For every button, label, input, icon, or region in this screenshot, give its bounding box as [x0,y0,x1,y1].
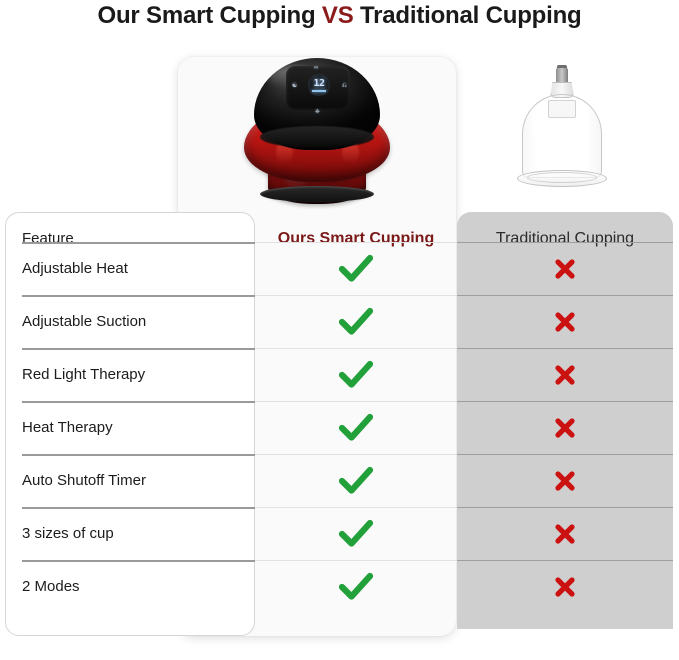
feature-label: Red Light Therapy [22,348,255,401]
traditional-mark-cell [457,295,673,348]
check-icon [339,519,373,549]
bluetooth-icon: ∞ [314,65,318,71]
cross-icon [554,258,576,280]
title-part-1: Our Smart Cupping [97,2,321,29]
feature-label: Adjustable Heat [22,242,255,295]
device-display-value: 12 [308,78,330,89]
title-part-2: Traditional Cupping [354,2,582,29]
table-row: 2 Modes [5,560,673,613]
table-row: Adjustable Heat [5,242,673,295]
check-icon [339,413,373,443]
cup-highlight [532,108,541,164]
traditional-mark-cell [457,401,673,454]
feature-label: 2 Modes [22,560,255,613]
table-row: Adjustable Suction [5,295,673,348]
table-row: Auto Shutoff Timer [5,454,673,507]
device-cup-rim [260,186,374,202]
ours-mark-cell [255,295,457,348]
ours-mark-cell [255,242,457,295]
feature-label: Auto Shutoff Timer [22,454,255,507]
comparison-table: Feature Ours Smart Cupping Traditional C… [5,212,673,636]
cross-icon [554,523,576,545]
page-title: Our Smart Cupping VS Traditional Cupping [0,2,679,30]
ours-mark-cell [255,401,457,454]
cross-icon [554,417,576,439]
check-icon [339,254,373,284]
traditional-mark-cell [457,454,673,507]
traditional-mark-cell [457,348,673,401]
check-icon [339,572,373,602]
cross-icon [554,470,576,492]
traditional-mark-cell [457,507,673,560]
table-rows: Adjustable HeatAdjustable SuctionRed Lig… [5,212,673,636]
check-icon [339,466,373,496]
smart-cupping-device-image: 12 ∞ ☯ ⎌ ⎈ [238,52,396,204]
cross-icon [554,364,576,386]
cup-valve [556,68,568,84]
comparison-infographic: Our Smart Cupping VS Traditional Cupping… [0,0,679,660]
cup-inner-tube [548,100,576,118]
cup-base-inner-rim [527,172,597,183]
check-icon [339,360,373,390]
ours-mark-cell [255,560,457,613]
traditional-mark-cell [457,242,673,295]
traditional-mark-cell [457,560,673,613]
cross-icon [554,311,576,333]
title-vs: VS [322,2,354,29]
ours-mark-cell [255,454,457,507]
feature-label: Adjustable Suction [22,295,255,348]
power-icon: ⎈ [315,109,320,115]
timer-icon: ⎌ [342,83,347,89]
cross-icon [554,576,576,598]
feature-label: 3 sizes of cup [22,507,255,560]
table-row: Red Light Therapy [5,348,673,401]
table-row: 3 sizes of cup [5,507,673,560]
ours-mark-cell [255,348,457,401]
ours-mark-cell [255,507,457,560]
device-level-bar [312,90,326,92]
table-row: Heat Therapy [5,401,673,454]
traditional-cup-image [512,60,612,202]
check-icon [339,307,373,337]
device-dome-band [260,126,374,148]
mode-icon: ☯ [292,83,297,89]
feature-label: Heat Therapy [22,401,255,454]
